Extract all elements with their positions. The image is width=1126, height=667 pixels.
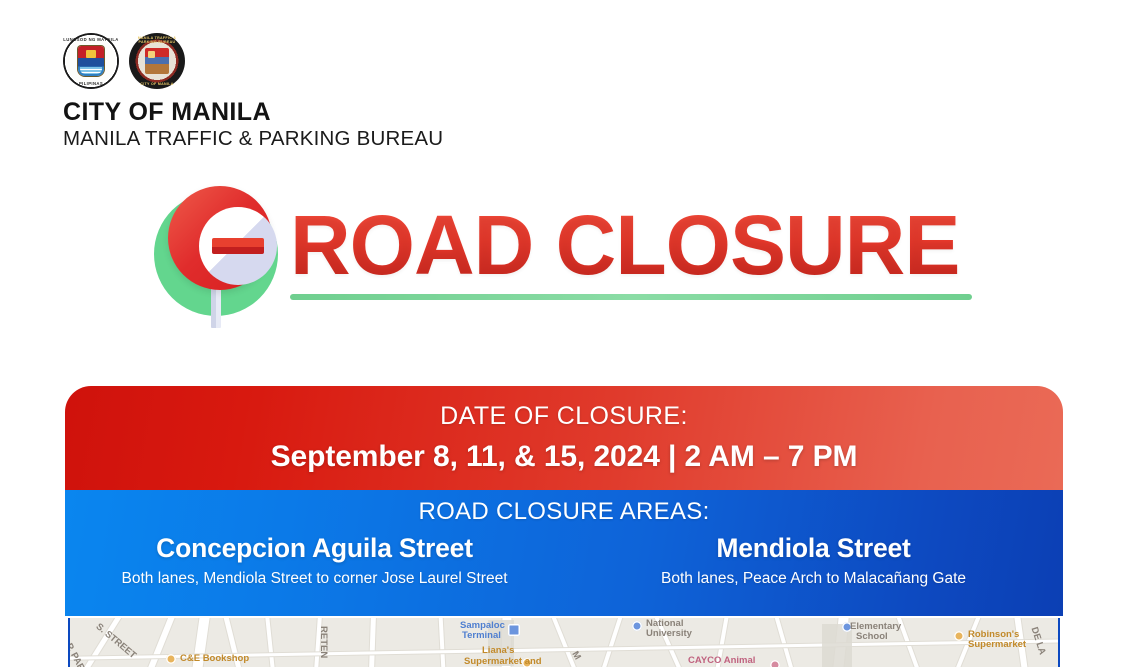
closure-area-item: Mendiola Street Both lanes, Peace Arch t… [564,533,1063,588]
map-poi-marker[interactable] [770,660,780,667]
no-entry-sign-disc [168,186,272,290]
organization-department: MANILA TRAFFIC & PARKING BUREAU [63,127,443,151]
road-closure-poster: LUNGSOD NG MAYNILA PILIPINAS MANILA TRAF… [0,0,1126,667]
traffic-bureau-seal-icon: MANILA TRAFFIC & PARKING BUREAU CITY OF … [129,33,185,89]
road-closure-areas-columns: Concepcion Aguila Street Both lanes, Men… [65,533,1063,588]
date-of-closure-label: DATE OF CLOSURE: [440,402,688,431]
manila-city-seal-icon: LUNGSOD NG MAYNILA PILIPINAS [63,33,119,89]
bureau-seal-ring-bottom: CITY OF MANILA [129,82,185,86]
map-label: CAYCO Animal [688,656,755,666]
map-label: Terminal [462,631,501,641]
poster-header: LUNGSOD NG MAYNILA PILIPINAS MANILA TRAF… [63,33,443,151]
title-text-wrap: ROAD CLOSURE [290,206,972,300]
title-underline [290,294,972,300]
seal-group: LUNGSOD NG MAYNILA PILIPINAS MANILA TRAF… [63,33,443,89]
map-label: C&E Bookshop [180,654,249,664]
no-entry-sign-bar [212,238,264,254]
map-label: Supermarket and [464,657,542,667]
bureau-seal-crest [145,48,169,74]
no-entry-sign-icon [150,178,282,328]
map-poi-marker[interactable] [166,654,176,664]
closure-area-name: Mendiola Street [564,533,1063,564]
closure-area-description: Both lanes, Mendiola Street to corner Jo… [65,570,564,588]
map-label: Liana's [482,646,514,656]
page-title: ROAD CLOSURE [290,206,972,286]
closure-area-name: Concepcion Aguila Street [65,533,564,564]
road-closure-areas-label: ROAD CLOSURE AREAS: [65,498,1063,526]
closure-area-description: Both lanes, Peace Arch to Malacañang Gat… [564,570,1063,588]
manila-seal-ring-bottom: PILIPINAS [63,81,119,86]
manila-seal-crest [78,46,104,76]
map-label: School [856,632,888,642]
manila-seal-ring-top: LUNGSOD NG MAYNILA [63,37,119,42]
title-block: ROAD CLOSURE [150,178,972,328]
map-label: University [646,629,692,639]
map-transit-marker[interactable] [508,624,520,636]
map-poi-marker[interactable] [632,621,642,631]
closure-map[interactable]: P. PAREDES S. STREET C&E Bookshop RETEN … [68,618,1060,667]
date-of-closure-banner: DATE OF CLOSURE: September 8, 11, & 15, … [65,386,1063,490]
date-of-closure-value: September 8, 11, & 15, 2024 | 2 AM – 7 P… [271,440,858,474]
organization-name: CITY OF MANILA [63,99,443,125]
road-closure-areas-banner: ROAD CLOSURE AREAS: Concepcion Aguila St… [65,490,1063,616]
map-poi-marker[interactable] [954,631,964,641]
bureau-seal-ring-top: MANILA TRAFFIC & PARKING BUREAU [129,36,185,44]
map-label: RETEN [318,626,328,658]
closure-area-item: Concepcion Aguila Street Both lanes, Men… [65,533,564,588]
map-label: Supermarket [968,640,1026,650]
